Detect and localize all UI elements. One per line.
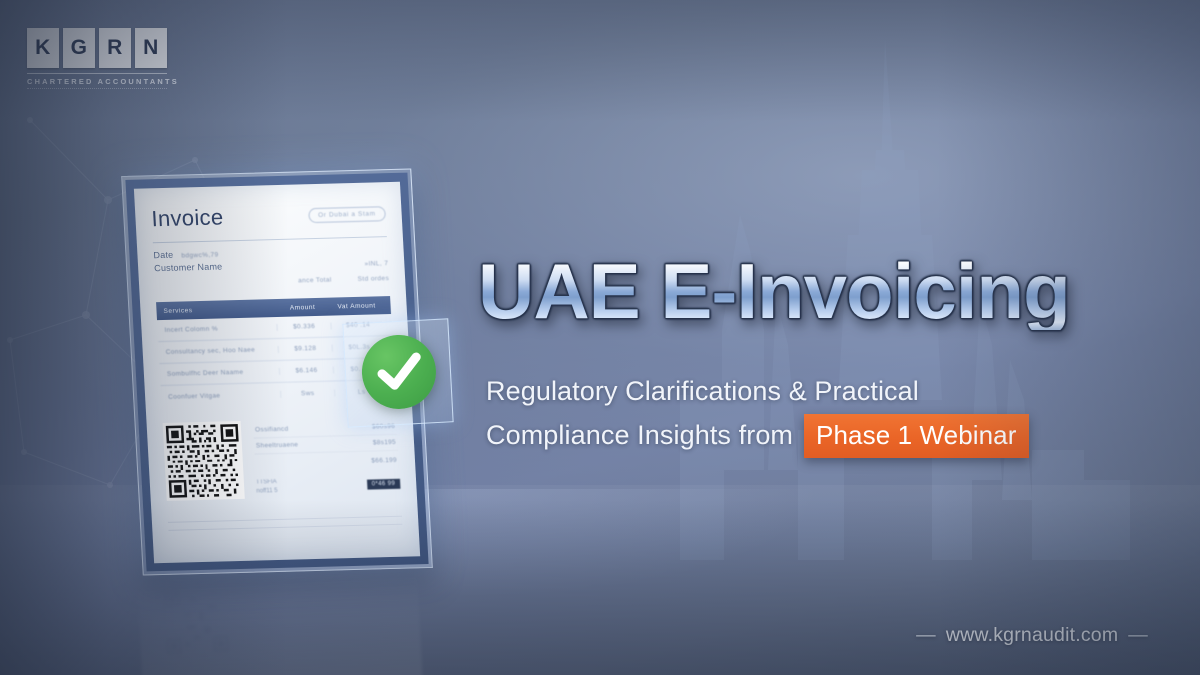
- invoice-col-amount: Amount: [275, 303, 329, 311]
- invoice-reference: TTSFIA noff11 5: [256, 478, 278, 497]
- invoice-subnote-row: ance Total Std ordes: [155, 275, 389, 288]
- invoice-totals: Ossifiancd $60s96 Sheeltruaene $8s195 $6…: [253, 417, 401, 499]
- logo-tagline-wrap: CHARTERED ACCOUNTANTS: [27, 73, 167, 89]
- invoice-customer-label: Customer Name: [154, 261, 223, 273]
- row-desc: Consultancy sec, Hoo Naee: [166, 346, 278, 356]
- row-amount: Sws: [280, 389, 334, 397]
- total-label: Ossifiancd: [255, 426, 289, 434]
- invoice-subnote-left: ance Total: [298, 277, 332, 285]
- phase-webinar-badge: Phase 1 Webinar: [804, 414, 1028, 458]
- row-desc: Coonfuer Vitgae: [168, 390, 280, 400]
- logo-tile-n: N: [135, 28, 167, 68]
- reflected-qr-icon: [164, 589, 229, 654]
- total-label: Sheeltruaene: [256, 441, 299, 449]
- invoice-col-vat: Vat Amount: [329, 302, 383, 310]
- invoice-footer-rules: [167, 495, 403, 531]
- grand-total-value: $66.199: [371, 457, 397, 465]
- row-amount: $6.146: [279, 367, 333, 375]
- footer-rule: [168, 524, 402, 531]
- logo-tile-k: K: [27, 28, 59, 68]
- row-desc: Incert Colomn %: [164, 324, 276, 334]
- invoice-customer-value: »INL, 7: [364, 260, 388, 268]
- grand-total-row: $66.199: [254, 451, 399, 472]
- checkmark-icon: [360, 333, 438, 411]
- verified-check-badge: [342, 318, 453, 427]
- subtitle-line-2-text: Compliance Insights from: [486, 414, 793, 458]
- invoice-customer-row: Customer Name »INL, 7: [154, 257, 389, 273]
- invoice-title: Invoice: [151, 206, 224, 230]
- subtitle-block: Regulatory Clarifications & Practical Co…: [486, 370, 1106, 458]
- invoice-footer-section: Ossifiancd $60s96 Sheeltruaene $8s195 $6…: [163, 417, 401, 501]
- logo-tagline: CHARTERED ACCOUNTANTS: [27, 74, 167, 88]
- logo-rule-bottom: [27, 88, 167, 89]
- logo-tile-r: R: [99, 28, 131, 68]
- invoice-divider: [153, 236, 387, 243]
- reference-line-2: noff11 5: [256, 487, 278, 497]
- qr-code-icon: [163, 421, 245, 501]
- invoice-stamp-badge: Or Dubai a Stam: [308, 206, 386, 223]
- promo-banner: K G R N CHARTERED ACCOUNTANTS Invoice Or…: [0, 0, 1200, 675]
- logo-tile-g: G: [63, 28, 95, 68]
- row-amount: $9.128: [278, 345, 332, 353]
- url-text[interactable]: www.kgrnaudit.com: [946, 624, 1118, 647]
- invoice-col-desc: Services: [163, 305, 275, 315]
- logo-letter-tiles: K G R N: [27, 28, 167, 68]
- row-desc: Sombulfhc Deer Naame: [167, 368, 279, 378]
- total-value: $8s195: [373, 439, 397, 447]
- invoice-reference-footer: TTSFIA noff11 5 0*46 99: [256, 475, 401, 497]
- dash-right: —: [1128, 624, 1148, 647]
- invoice-date-label: Date: [153, 250, 173, 261]
- dash-left: —: [916, 624, 936, 647]
- invoice-subnote-right: Std ordes: [357, 275, 389, 283]
- website-url[interactable]: — www.kgrnaudit.com —: [916, 624, 1148, 647]
- kgrn-logo[interactable]: K G R N CHARTERED ACCOUNTANTS: [27, 28, 167, 89]
- invoice-header: Invoice Or Dubai a Stam: [151, 202, 386, 230]
- page-title: UAE E-Invoicing: [478, 252, 1070, 330]
- footer-rule: [168, 516, 402, 523]
- subtitle-line-1: Regulatory Clarifications & Practical: [486, 370, 1106, 414]
- subtitle-line-2: Compliance Insights from Phase 1 Webinar: [486, 414, 1106, 458]
- row-amount: $0.336: [276, 323, 330, 331]
- invoice-reference-chip: 0*46 99: [366, 479, 400, 490]
- invoice-mirror-reflection: [137, 571, 422, 675]
